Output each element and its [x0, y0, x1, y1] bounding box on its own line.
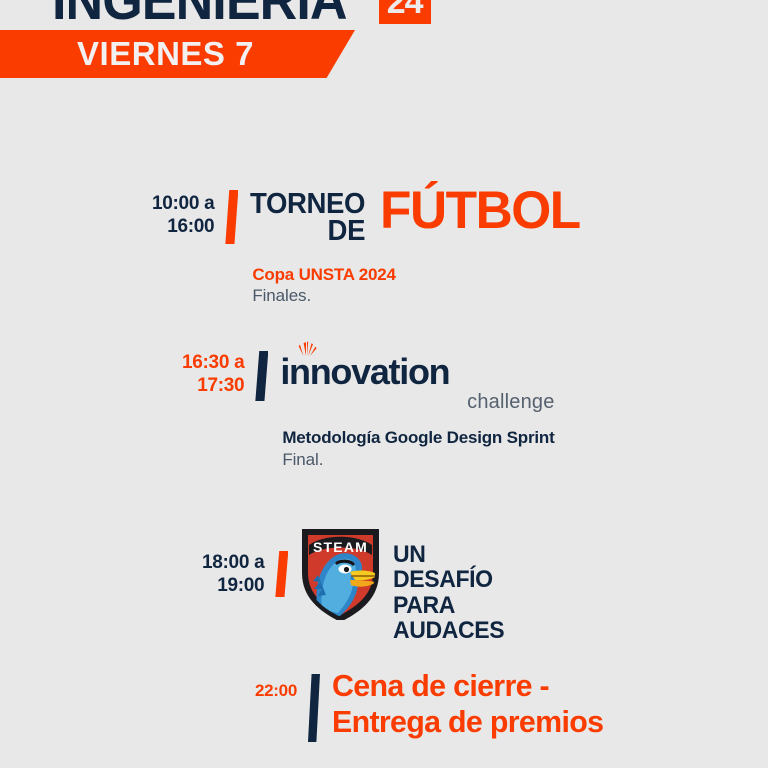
- slash-divider-icon: [308, 674, 320, 742]
- event-time: 10:00 a 16:00: [152, 188, 214, 238]
- event-title-main: FÚTBOL: [380, 186, 580, 236]
- event-time: 16:30 a 17:30: [182, 347, 244, 397]
- schedule-list: 10:00 a 16:00 TORNEO DE FÚTBOL Copa UNST…: [0, 100, 768, 768]
- event-item-futbol[interactable]: 10:00 a 16:00 TORNEO DE FÚTBOL Copa UNST…: [152, 188, 586, 307]
- event-item-innovation[interactable]: 16:30 a 17:30 innovation challenge Metod: [182, 347, 555, 471]
- event-subtitle-primary: Copa UNSTA 2024: [252, 264, 586, 286]
- event-tagline: UN DESAFÍO PARA AUDACES: [393, 542, 504, 644]
- event-time: 18:00 a 19:00: [202, 525, 264, 597]
- event-title-main: Cena de cierre - Entrega de premios: [332, 668, 603, 739]
- event-title-small: TORNEO DE: [250, 188, 365, 246]
- event-subtitle-primary: Metodología Google Design Sprint: [282, 427, 554, 449]
- event-subtitle-block: Metodología Google Design Sprint Final.: [282, 427, 554, 471]
- brand-title: INGENIERÍA: [52, 0, 347, 28]
- event-title-row: TORNEO DE FÚTBOL: [250, 188, 586, 246]
- slash-divider-icon: [275, 551, 288, 597]
- day-banner-label: VIERNES 7: [77, 35, 278, 73]
- brand-lockup: INGENIERÍA 24: [52, 0, 431, 28]
- event-item-cena[interactable]: 22:00 Cena de cierre - Entrega de premio…: [255, 668, 609, 742]
- brand-year-badge: 24: [379, 0, 431, 24]
- starburst-icon: [294, 341, 320, 356]
- innovation-wordmark: innovation: [280, 343, 554, 390]
- innovation-challenge-logo: innovation challenge: [280, 343, 554, 412]
- event-subtitle-secondary: Finales.: [252, 285, 586, 307]
- steam-shield-logo-icon: STEAM: [298, 525, 383, 620]
- event-subtitle-block: Copa UNSTA 2024 Finales.: [252, 264, 586, 308]
- event-time: 22:00: [255, 668, 297, 702]
- event-body: TORNEO DE FÚTBOL Copa UNSTA 2024 Finales…: [250, 188, 586, 307]
- day-banner: VIERNES 7: [0, 30, 355, 78]
- event-item-steam[interactable]: 18:00 a 19:00: [202, 525, 509, 644]
- poster-header: INGENIERÍA 24 VIERNES 7: [0, 0, 768, 100]
- slash-divider-icon: [255, 351, 268, 401]
- steam-logo-text: STEAM: [313, 539, 368, 555]
- slash-divider-icon: [225, 190, 238, 244]
- innovation-subwordmark: challenge: [280, 392, 554, 412]
- event-subtitle-secondary: Final.: [282, 449, 554, 471]
- event-body: innovation challenge Metodología Google …: [280, 347, 554, 471]
